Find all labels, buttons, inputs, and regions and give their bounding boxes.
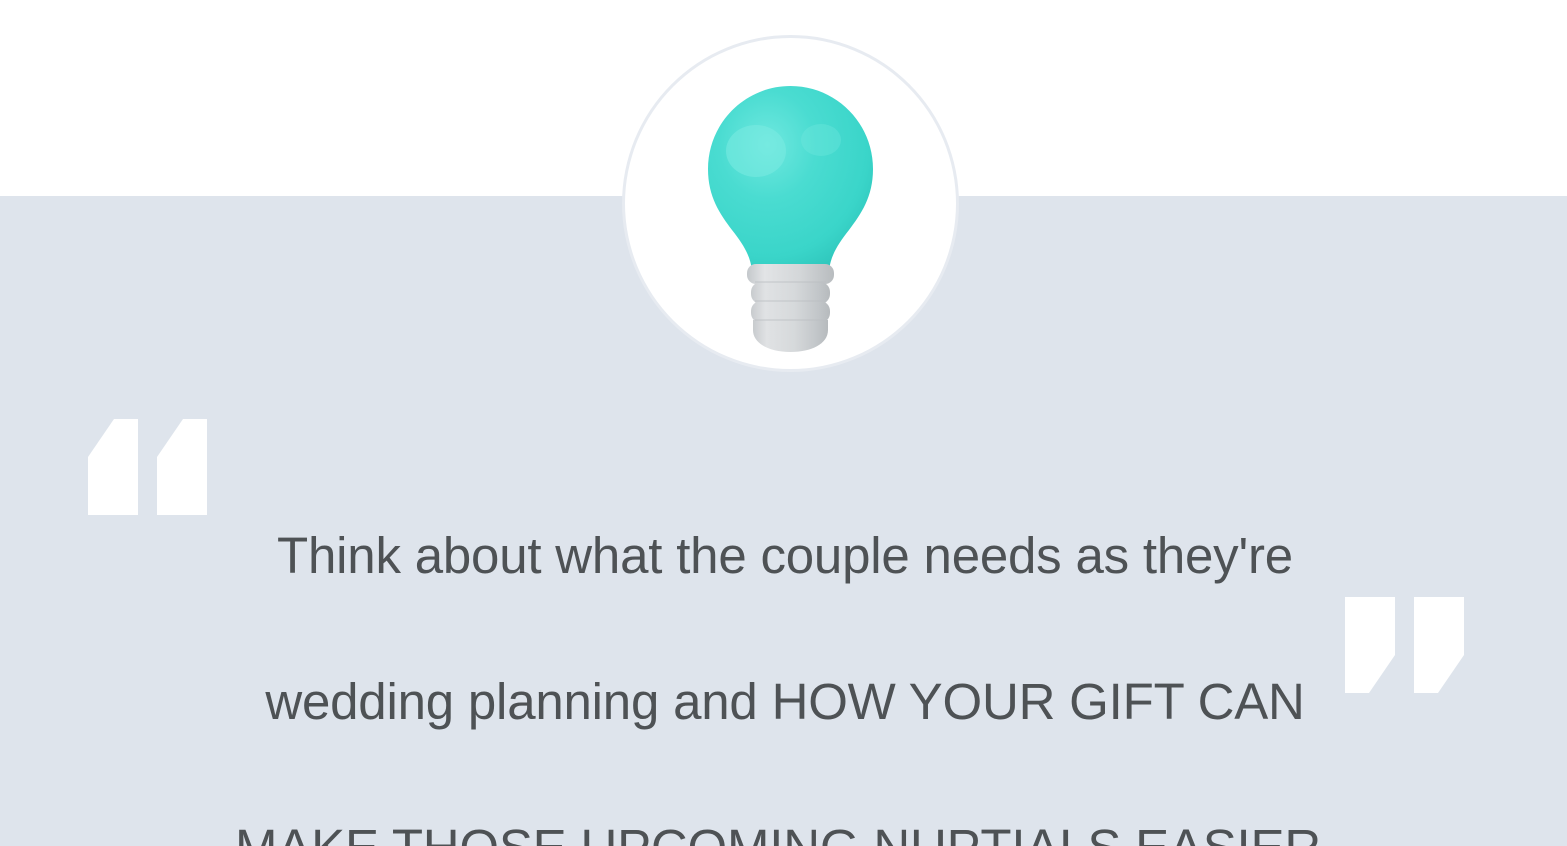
quote-line-3-emphasis: MAKE THOSE UPCOMING NUPTIALS EASIER. bbox=[235, 819, 1335, 846]
quote-line-1: Think about what the couple needs as the… bbox=[277, 527, 1293, 584]
quote-card: Think about what the couple needs as the… bbox=[0, 0, 1567, 846]
quote-text: Think about what the couple needs as the… bbox=[120, 446, 1450, 846]
quote-line-2-emphasis: HOW YOUR GIFT CAN bbox=[772, 673, 1305, 730]
bulb-badge-circle bbox=[625, 38, 956, 369]
lightbulb-icon bbox=[625, 38, 956, 369]
opening-quote-mark-icon bbox=[88, 419, 210, 515]
closing-quote-mark-icon bbox=[1345, 597, 1467, 693]
quote-line-2-normal: wedding planning and bbox=[265, 673, 771, 730]
